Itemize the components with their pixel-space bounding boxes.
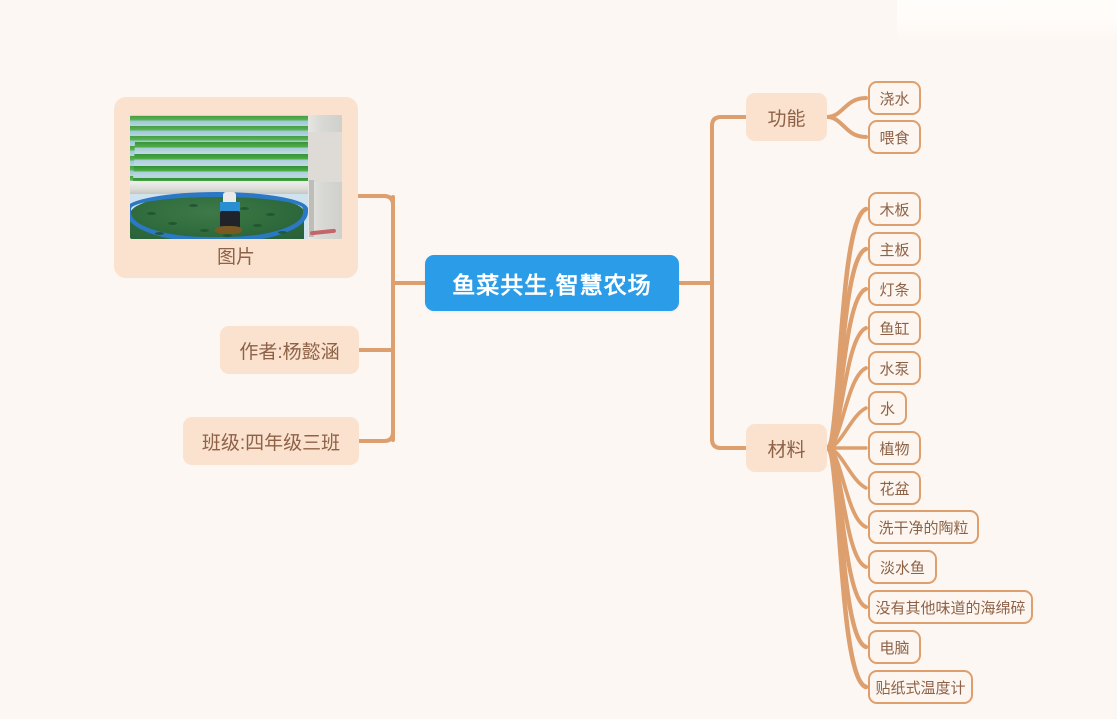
leaf-node-flower-pot[interactable]: 花盆 [868, 471, 921, 505]
root-node-label: 鱼菜共生,智慧农场 [452, 266, 651, 300]
link-right-to-cailiao [712, 439, 746, 448]
leaf-node-flower-pot-label: 花盆 [880, 478, 910, 499]
leaf-node-wood-board[interactable]: 木板 [868, 192, 921, 226]
image-node[interactable]: 图片 [114, 97, 358, 278]
leaf-node-motherboard[interactable]: 主板 [868, 232, 921, 266]
link-gongneng-feeding [827, 117, 866, 137]
leaf-node-freshwater-fish[interactable]: 淡水鱼 [868, 550, 937, 584]
leaf-node-watering[interactable]: 浇水 [868, 81, 921, 115]
leaf-node-washed-clay-pellets[interactable]: 洗干净的陶粒 [868, 510, 979, 544]
leaf-node-freshwater-fish-label: 淡水鱼 [880, 557, 925, 578]
leaf-node-fish-tank[interactable]: 鱼缸 [868, 311, 921, 345]
aquaponics-photo [130, 115, 342, 239]
mindmap-canvas: 鱼菜共生,智慧农场 [0, 0, 1117, 719]
root-node[interactable]: 鱼菜共生,智慧农场 [425, 255, 679, 311]
link-right-to-gongneng [712, 117, 746, 126]
leaf-node-motherboard-label: 主板 [880, 239, 910, 260]
leaf-node-plants-label: 植物 [880, 438, 910, 459]
leaf-node-wood-board-label: 木板 [880, 199, 910, 220]
link-left-to-class [357, 432, 393, 441]
corner-highlight [897, 0, 1117, 42]
leaf-node-odorless-sponge[interactable]: 没有其他味道的海绵碎 [868, 590, 1033, 624]
leaf-node-fish-tank-label: 鱼缸 [880, 318, 910, 339]
class-node[interactable]: 班级:四年级三班 [183, 417, 359, 465]
branch-node-materials-label: 材料 [767, 435, 805, 462]
class-node-label: 班级:四年级三班 [202, 428, 340, 455]
leaf-node-sticker-thermometer[interactable]: 贴纸式温度计 [868, 670, 973, 704]
leaf-node-water-pump-label: 水泵 [880, 358, 910, 379]
leaf-node-light-strip-label: 灯条 [880, 279, 910, 300]
leaf-node-light-strip[interactable]: 灯条 [868, 272, 921, 306]
leaf-node-water-label: 水 [880, 398, 895, 419]
link-gongneng-watering [827, 98, 866, 117]
leaf-node-feeding[interactable]: 喂食 [868, 120, 921, 154]
author-node[interactable]: 作者:杨懿涵 [220, 326, 359, 374]
leaf-node-water-pump[interactable]: 水泵 [868, 351, 921, 385]
branch-node-function-label: 功能 [767, 104, 805, 131]
leaf-node-odorless-sponge-label: 没有其他味道的海绵碎 [876, 597, 1026, 618]
leaf-node-computer[interactable]: 电脑 [868, 630, 921, 664]
link-left-to-image [357, 196, 393, 205]
leaf-node-watering-label: 浇水 [880, 88, 910, 109]
leaf-node-water[interactable]: 水 [868, 391, 907, 425]
image-node-caption: 图片 [217, 247, 255, 270]
leaf-node-washed-clay-pellets-label: 洗干净的陶粒 [879, 517, 969, 538]
leaf-node-computer-label: 电脑 [880, 637, 910, 658]
branch-node-materials[interactable]: 材料 [746, 424, 827, 472]
leaf-node-sticker-thermometer-label: 贴纸式温度计 [876, 677, 966, 698]
link-cailiao-children [827, 209, 866, 687]
leaf-node-plants[interactable]: 植物 [868, 431, 921, 465]
leaf-node-feeding-label: 喂食 [880, 127, 910, 148]
author-node-label: 作者:杨懿涵 [239, 337, 339, 364]
branch-node-function[interactable]: 功能 [746, 93, 827, 141]
